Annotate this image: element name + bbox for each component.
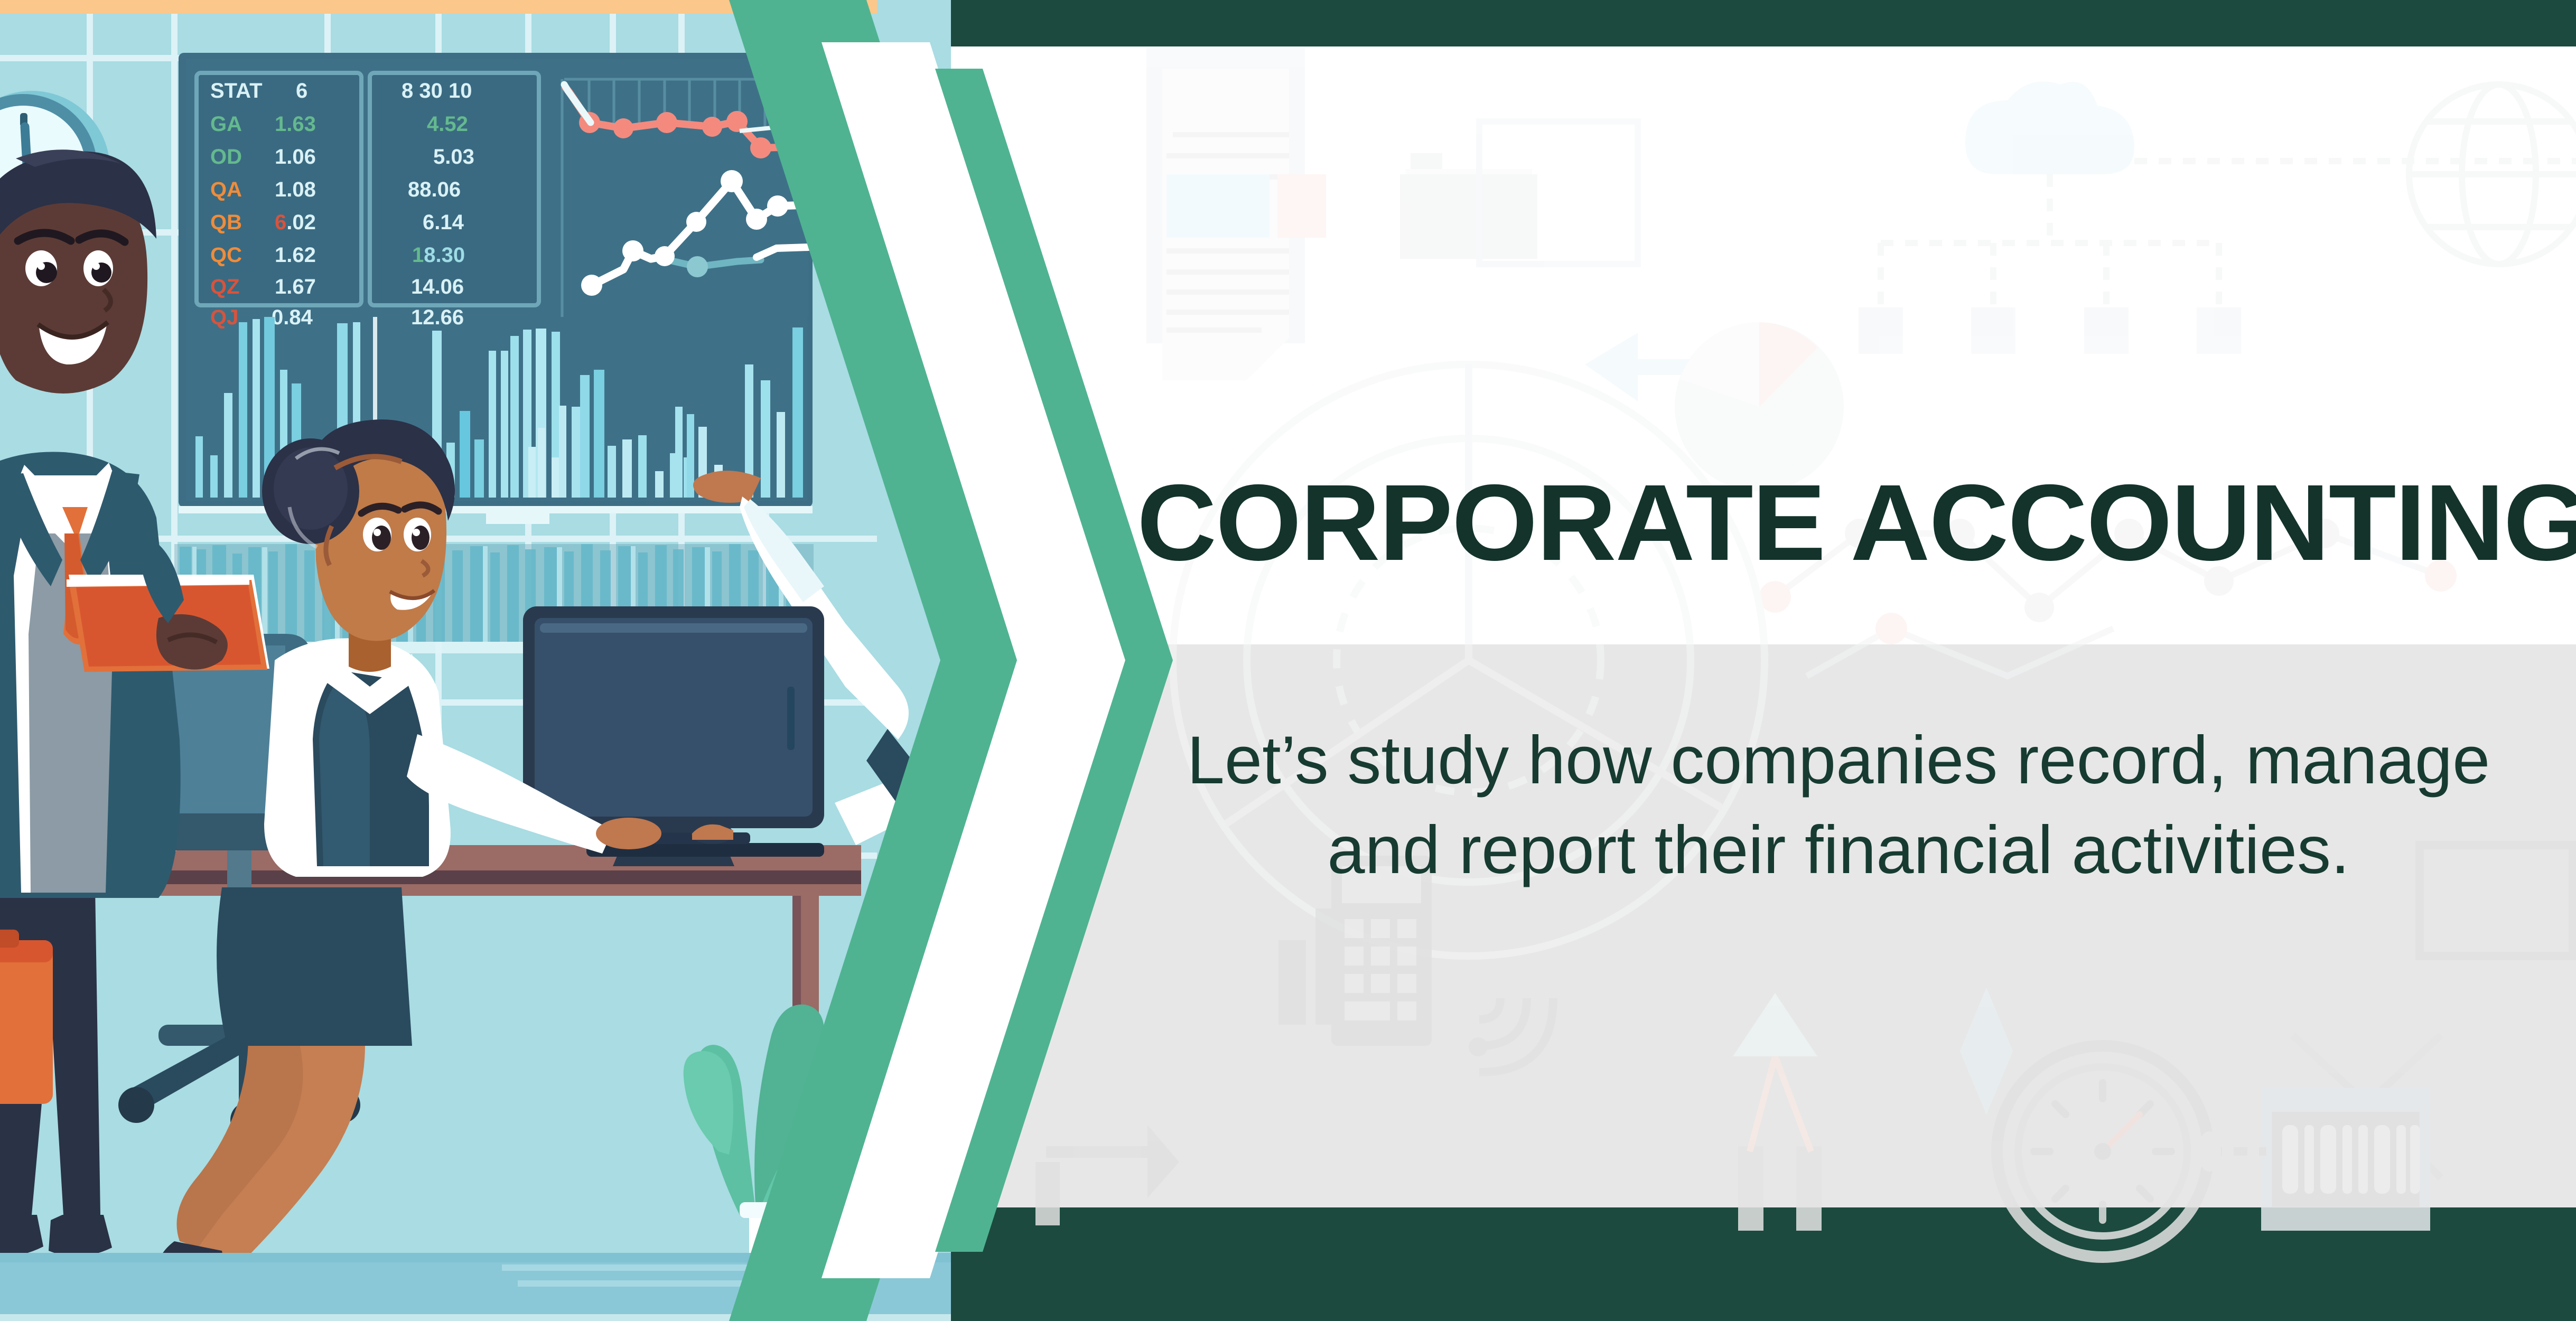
svg-text:4.52: 4.52 bbox=[427, 113, 468, 136]
svg-text:1.62: 1.62 bbox=[275, 243, 316, 267]
svg-text:0.84: 0.84 bbox=[272, 306, 313, 329]
svg-text:QA: QA bbox=[210, 178, 242, 201]
top-dark-band bbox=[951, 0, 2576, 46]
svg-text:6.14: 6.14 bbox=[423, 211, 464, 234]
svg-text:14.06: 14.06 bbox=[411, 275, 464, 298]
svg-text:5.03: 5.03 bbox=[433, 145, 474, 168]
svg-text:QC: QC bbox=[210, 243, 242, 267]
svg-text:OD: OD bbox=[210, 145, 242, 168]
chevron-divider bbox=[708, 0, 1194, 1321]
svg-text:QJ: QJ bbox=[210, 306, 238, 329]
page-subtitle: Let’s study how companies record, manage… bbox=[1157, 716, 2520, 895]
svg-text:1.63: 1.63 bbox=[275, 113, 316, 136]
svg-text:STAT: STAT bbox=[210, 79, 263, 102]
svg-text:6: 6 bbox=[296, 79, 307, 102]
svg-text:1.67: 1.67 bbox=[275, 275, 316, 298]
svg-text:1.06: 1.06 bbox=[275, 145, 316, 168]
svg-text:QZ: QZ bbox=[210, 275, 240, 298]
svg-text:6.02: 6.02 bbox=[275, 211, 316, 234]
svg-text:8 30 10: 8 30 10 bbox=[402, 79, 472, 102]
svg-text:QB: QB bbox=[210, 211, 242, 234]
svg-text:12.66: 12.66 bbox=[411, 306, 464, 329]
page-title: CORPORATE ACCOUNTING bbox=[1137, 465, 2560, 581]
svg-text:1.08: 1.08 bbox=[275, 178, 316, 201]
bottom-dark-band bbox=[951, 1207, 2576, 1321]
right-content-panel bbox=[951, 0, 2576, 1321]
svg-text:18.30: 18.30 bbox=[412, 243, 465, 267]
svg-text:GA: GA bbox=[210, 113, 242, 136]
svg-text:88.06: 88.06 bbox=[408, 178, 461, 201]
corporate-accounting-banner: STAT 6 8 30 10 GA 1.63 4.52 OD 1.06 5.03… bbox=[0, 0, 2576, 1321]
